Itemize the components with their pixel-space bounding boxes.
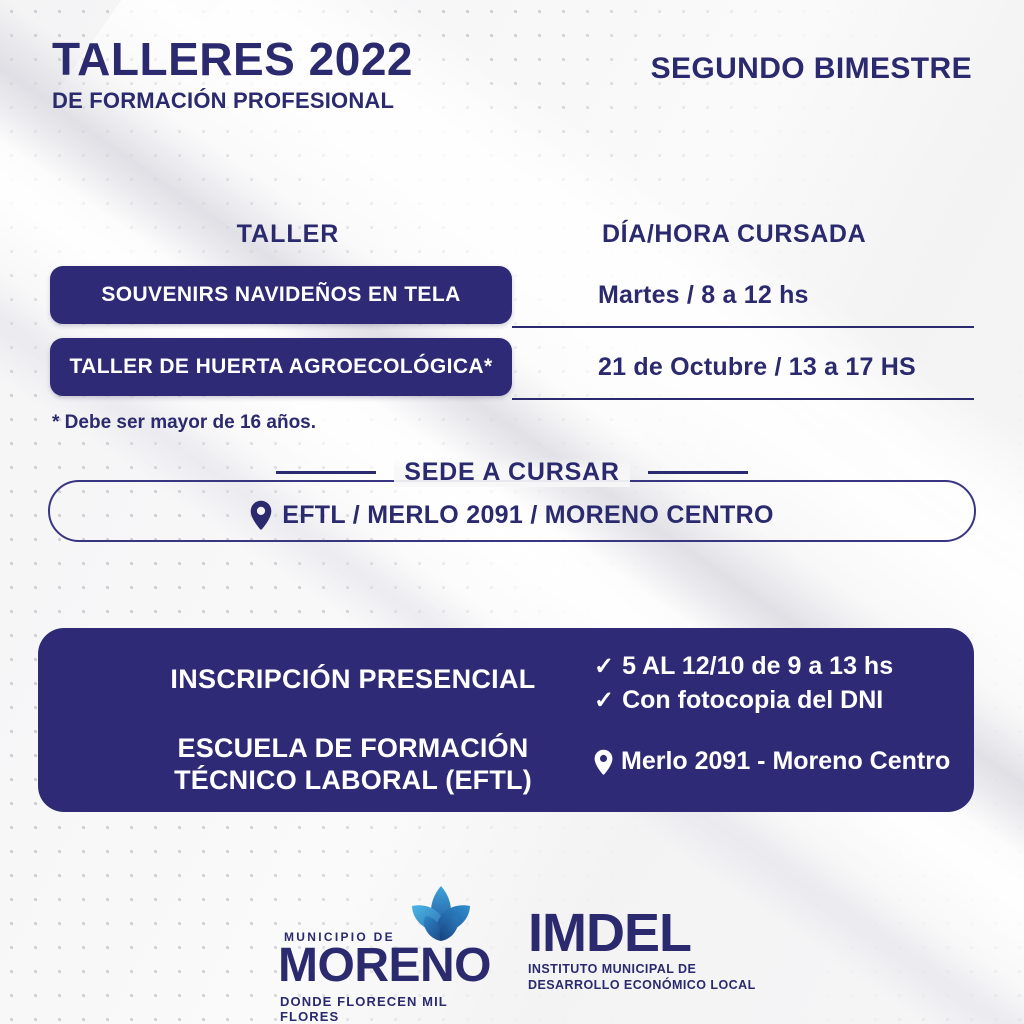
location-pin-icon xyxy=(594,749,613,775)
list-item-label: 5 AL 12/10 de 9 a 13 hs xyxy=(622,650,893,684)
page-subtitle: DE FORMACIÓN PROFESIONAL xyxy=(52,88,413,114)
table-row: SOUVENIRS NAVIDEÑOS EN TELA Martes / 8 a… xyxy=(50,266,974,324)
check-icon: ✓ xyxy=(594,685,614,717)
workshop-schedule: Martes / 8 a 12 hs xyxy=(598,266,809,324)
row-divider xyxy=(512,398,974,400)
page-title: TALLERES 2022 xyxy=(52,36,413,82)
location-pin-icon xyxy=(250,500,272,530)
imdel-subtitle-line1: INSTITUTO MUNICIPAL DE xyxy=(528,962,756,977)
sede-value: EFTL / MERLO 2091 / MORENO CENTRO xyxy=(282,501,773,530)
imdel-logo: IMDEL INSTITUTO MUNICIPAL DE DESARROLLO … xyxy=(528,908,756,993)
inscription-left: INSCRIPCIÓN PRESENCIAL ESCUELA DE FORMAC… xyxy=(143,664,563,797)
school-name-line1: ESCUELA DE FORMACIÓN xyxy=(143,733,563,765)
sede-section: SEDE A CURSAR EFTL / MERLO 2091 / MORENO… xyxy=(48,480,976,542)
school-name: ESCUELA DE FORMACIÓN TÉCNICO LABORAL (EF… xyxy=(143,733,563,797)
moreno-wordmark: MORENO xyxy=(278,942,491,990)
list-item: ✓ Con fotocopia del DNI xyxy=(594,684,950,718)
imdel-wordmark: IMDEL xyxy=(528,908,756,959)
list-item: ✓ 5 AL 12/10 de 9 a 13 hs xyxy=(594,650,950,684)
inscription-address-row: Merlo 2091 - Moreno Centro xyxy=(594,747,950,776)
workshop-schedule: 21 de Octubre / 13 a 17 HS xyxy=(598,338,916,396)
inscription-panel: INSCRIPCIÓN PRESENCIAL ESCUELA DE FORMAC… xyxy=(38,628,974,812)
sede-rule-left xyxy=(276,471,376,474)
inscription-heading: INSCRIPCIÓN PRESENCIAL xyxy=(143,664,563,695)
inscription-right: ✓ 5 AL 12/10 de 9 a 13 hs ✓ Con fotocopi… xyxy=(594,650,950,776)
row-divider xyxy=(512,326,974,328)
sede-body: EFTL / MERLO 2091 / MORENO CENTRO xyxy=(48,480,976,542)
inscription-address: Merlo 2091 - Moreno Centro xyxy=(621,747,950,776)
column-header-taller: TALLER xyxy=(174,220,402,249)
imdel-subtitle-line2: DESARROLLO ECONÓMICO LOCAL xyxy=(528,978,756,993)
footer: MUNICIPIO DE MORENO DONDE FLORECEN MIL F… xyxy=(0,886,1024,1016)
header: TALLERES 2022 DE FORMACIÓN PROFESIONAL xyxy=(52,36,413,114)
sede-rule-right xyxy=(648,471,748,474)
workshop-name-pill[interactable]: SOUVENIRS NAVIDEÑOS EN TELA xyxy=(50,266,512,324)
bimestre-label: SEGUNDO BIMESTRE xyxy=(651,52,972,86)
column-header-dia-hora: DÍA/HORA CURSADA xyxy=(602,220,866,249)
table-row: TALLER DE HUERTA AGROECOLÓGICA* 21 de Oc… xyxy=(50,338,974,396)
school-name-line2: TÉCNICO LABORAL (EFTL) xyxy=(143,765,563,797)
imdel-subtitle: INSTITUTO MUNICIPAL DE DESARROLLO ECONÓM… xyxy=(528,962,756,993)
poster: TALLERES 2022 DE FORMACIÓN PROFESIONAL S… xyxy=(0,0,1024,1024)
moreno-tagline: DONDE FLORECEN MIL FLORES xyxy=(280,994,478,1024)
workshop-name-pill[interactable]: TALLER DE HUERTA AGROECOLÓGICA* xyxy=(50,338,512,396)
footnote: * Debe ser mayor de 16 años. xyxy=(52,412,316,434)
check-icon: ✓ xyxy=(594,651,614,683)
list-item-label: Con fotocopia del DNI xyxy=(622,684,883,718)
